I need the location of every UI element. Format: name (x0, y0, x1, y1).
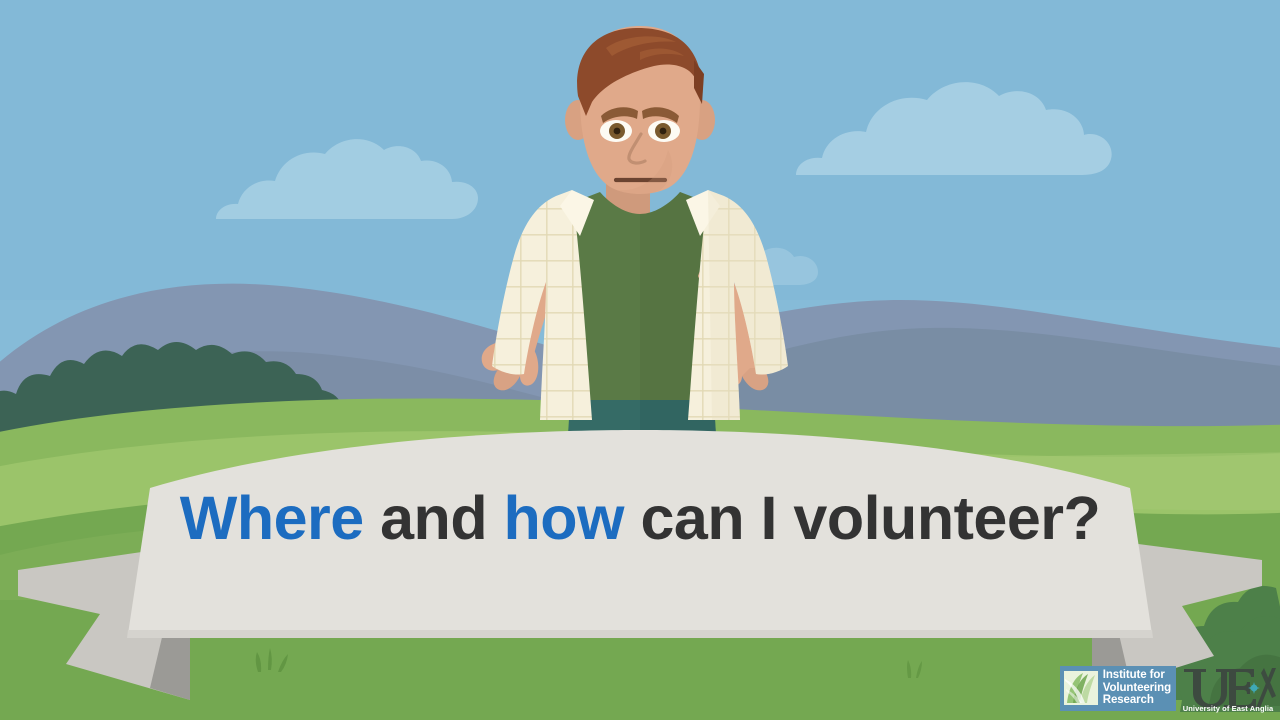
scene-illustration (0, 0, 1280, 720)
ivr-wordmark: Institute for Volunteering Research (1099, 669, 1171, 706)
ivr-line-3: Research (1103, 694, 1171, 706)
ivr-line-1: Institute for (1103, 669, 1171, 681)
uea-subtitle: University of East Anglia (1180, 704, 1276, 713)
banner-face (128, 430, 1152, 634)
character-pupil-left (614, 128, 621, 135)
banner-bottom-edge (127, 630, 1153, 638)
logo-bar: Institute for Volunteering Research Univ… (1060, 662, 1276, 714)
slide-canvas: Where and how can I volunteer? Institute… (0, 0, 1280, 720)
uea-logo: University of East Anglia (1180, 664, 1276, 712)
institute-for-volunteering-research-logo: Institute for Volunteering Research (1060, 666, 1176, 711)
ivr-line-2: Volunteering (1103, 682, 1171, 694)
character-pupil-right (660, 128, 667, 135)
ivr-leaf-icon (1063, 669, 1099, 707)
